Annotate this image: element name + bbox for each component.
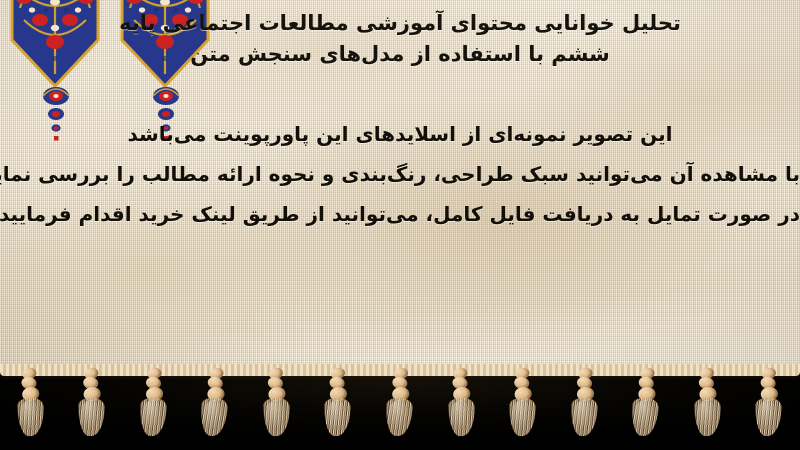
carpet-fringe-tassel bbox=[129, 364, 178, 450]
carpet-fringe-tassel bbox=[68, 364, 117, 450]
carpet-fringe-tassel bbox=[375, 363, 426, 450]
fringe-brush bbox=[263, 398, 290, 437]
carpet-fringe-tassel bbox=[745, 364, 793, 450]
carpet-fringe bbox=[0, 364, 800, 450]
body-line-3: در صورت تمایل به دریافت فایل کامل، می‌تو… bbox=[0, 194, 800, 234]
title-line-1: تحلیل خوانایی محتوای آموزشی مطالعات اجتم… bbox=[0, 8, 800, 39]
fringe-brush bbox=[694, 398, 721, 437]
body-line-2: با مشاهده آن می‌توانید سبک طراحی، رنگ‌بن… bbox=[0, 154, 800, 194]
fringe-brush bbox=[140, 398, 167, 436]
carpet-fringe-tassel bbox=[560, 364, 609, 450]
carpet-fringe-tassel bbox=[682, 363, 733, 450]
fringe-brush bbox=[79, 398, 106, 436]
carpet-fringe-tassel bbox=[189, 363, 241, 450]
slide-canvas: تحلیل خوانایی محتوای آموزشی مطالعات اجتم… bbox=[0, 0, 800, 450]
body-line-1: این تصویر نمونه‌ای از اسلایدهای این پاور… bbox=[0, 114, 800, 154]
fringe-brush bbox=[386, 398, 413, 437]
slide-body: این تصویر نمونه‌ای از اسلایدهای این پاور… bbox=[0, 114, 800, 234]
carpet-fringe-tassel bbox=[620, 363, 672, 450]
fringe-brush bbox=[509, 398, 536, 436]
fringe-brush bbox=[448, 397, 476, 436]
fringe-brush bbox=[571, 398, 598, 436]
carpet-fringe-tassel bbox=[5, 363, 57, 450]
carpet-fringe-tassel bbox=[314, 364, 362, 450]
fringe-brush bbox=[631, 397, 659, 436]
carpet-fringe-tassel bbox=[436, 363, 488, 450]
fringe-brush bbox=[17, 397, 45, 436]
fringe-brush bbox=[201, 397, 229, 436]
fringe-brush bbox=[325, 398, 351, 436]
fringe-brush bbox=[756, 398, 782, 436]
carpet-fringe-tassel bbox=[252, 363, 303, 450]
carpet-fringe-tassel bbox=[498, 364, 547, 450]
slide-title: تحلیل خوانایی محتوای آموزشی مطالعات اجتم… bbox=[0, 8, 800, 70]
title-line-2: ششم با استفاده از مدل‌های سنجش متن bbox=[0, 39, 800, 70]
